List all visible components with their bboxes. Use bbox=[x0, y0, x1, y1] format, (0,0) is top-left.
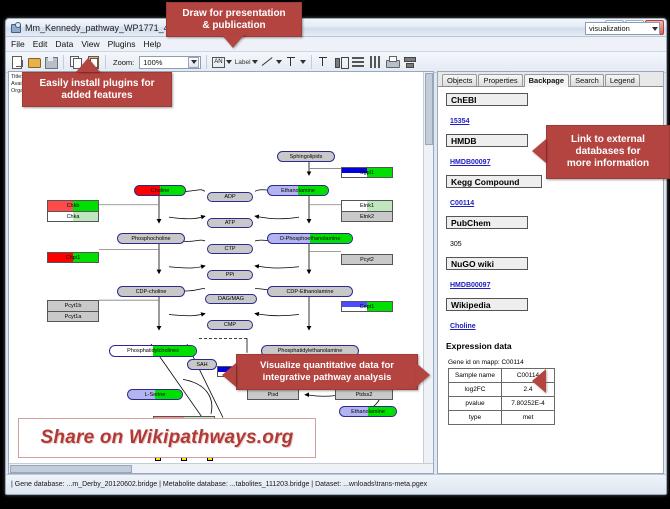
table-row: type met bbox=[449, 411, 555, 425]
node-label: CTP bbox=[225, 246, 236, 252]
line-icon bbox=[261, 55, 275, 69]
node-chkb[interactable]: Chkb bbox=[47, 200, 99, 211]
node-ptdss2[interactable]: Ptdss2 bbox=[335, 389, 393, 400]
node-label: Pcyt1b bbox=[65, 303, 82, 309]
cell-key: type bbox=[449, 411, 502, 425]
node-label: ADP bbox=[224, 194, 235, 200]
canvas-hscroll-thumb[interactable] bbox=[10, 465, 132, 473]
node-label: Cept1 bbox=[360, 304, 375, 310]
callout-line-3: more information bbox=[567, 158, 649, 170]
menu-plugins[interactable]: Plugins bbox=[108, 39, 136, 49]
datanode-icon: AN bbox=[212, 57, 224, 68]
callout-line-1: Easily install plugins for bbox=[39, 78, 154, 90]
toolbar-separator bbox=[105, 55, 106, 69]
node-ppi[interactable]: PPi bbox=[207, 270, 253, 280]
node-label: Chpt1 bbox=[66, 255, 81, 261]
callout-external-databases: Link to external databases for more info… bbox=[546, 125, 670, 179]
menu-bar: File Edit Data View Plugins Help bbox=[6, 37, 666, 52]
label-dropdown[interactable]: Label bbox=[235, 59, 258, 66]
callout-arrow-down-draw bbox=[221, 34, 245, 48]
node-cdp-choline[interactable]: CDP-choline bbox=[117, 286, 185, 297]
save-file-icon[interactable] bbox=[44, 55, 58, 69]
db-header-chebi: ChEBI bbox=[446, 93, 528, 106]
db-header-kegg-compound: Kegg Compound bbox=[446, 175, 542, 188]
tab-search[interactable]: Search bbox=[570, 74, 604, 86]
callout-install-plugins: Easily install plugins for added feature… bbox=[22, 72, 172, 107]
node-pcyt1b[interactable]: Pcyt1b bbox=[47, 300, 99, 311]
node-label: Phosphatidylcholines bbox=[127, 348, 179, 354]
db-link-kegg-compound[interactable]: C00114 bbox=[450, 200, 474, 207]
db-header-wikipedia: Wikipedia bbox=[446, 298, 528, 311]
properties-icon[interactable] bbox=[402, 55, 416, 69]
toolbar-separator bbox=[206, 55, 207, 69]
expression-data-title: Expression data bbox=[446, 341, 663, 351]
menu-data[interactable]: Data bbox=[55, 39, 73, 49]
table-row: pvalue 7.80252E-4 bbox=[449, 397, 555, 411]
canvas-vscrollbar[interactable] bbox=[423, 72, 433, 464]
node-label: Phosphocholine bbox=[131, 236, 170, 242]
node-atp[interactable]: ATP bbox=[207, 218, 253, 228]
status-text: | Gene database: ...m_Derby_20120602.bri… bbox=[11, 481, 427, 488]
pathway-canvas[interactable]: Title: Availa Organi bbox=[8, 71, 434, 474]
label-dropdown-label: Label bbox=[235, 59, 251, 66]
node-label: Pisd bbox=[268, 392, 279, 398]
node-label: Ethanolamine bbox=[281, 188, 315, 194]
align-rows-icon[interactable] bbox=[351, 55, 365, 69]
node-dag-mag[interactable]: DAG/MAG bbox=[205, 294, 257, 304]
db-header-hmdb: HMDB bbox=[446, 134, 528, 147]
visualization-value: visualization bbox=[589, 24, 630, 33]
node-label: CDP-Ethanolamine bbox=[286, 289, 333, 295]
share-banner: Share on Wikipathways.org bbox=[18, 418, 316, 458]
node-phosphatidylcholines[interactable]: Phosphatidylcholines bbox=[109, 345, 197, 357]
node-label: Chka bbox=[67, 214, 80, 220]
toolbar-separator bbox=[63, 55, 64, 69]
side-panel-tabs: Objects Properties Backpage Search Legen… bbox=[438, 72, 663, 87]
node-cdp-ethanolamine[interactable]: CDP-Ethanolamine bbox=[267, 286, 353, 297]
cell-value: 2.4 bbox=[502, 383, 555, 397]
tab-properties[interactable]: Properties bbox=[478, 74, 522, 86]
db-header-nugo-wiki: NuGO wiki bbox=[446, 257, 528, 270]
callout-arrow-left-databases bbox=[532, 139, 546, 163]
node-ctp[interactable]: CTP bbox=[207, 244, 253, 254]
canvas-hscrollbar[interactable] bbox=[9, 463, 433, 473]
zoom-combobox[interactable]: 100% bbox=[139, 56, 201, 69]
share-banner-text: Share on Wikipathways.org bbox=[41, 427, 294, 449]
gene-id-label: Gene id on mapp: C00114 bbox=[448, 359, 663, 366]
db-link-wikipedia[interactable]: Choline bbox=[450, 323, 476, 330]
cell-key: log2FC bbox=[449, 383, 502, 397]
print-icon[interactable] bbox=[385, 55, 399, 69]
callout-line-1: Visualize quantitative data for bbox=[260, 360, 394, 372]
node-sphingolipids[interactable]: Sphingolipids bbox=[277, 151, 335, 162]
menu-help[interactable]: Help bbox=[144, 39, 161, 49]
interaction-dropdown[interactable] bbox=[285, 55, 306, 69]
db-link-chebi[interactable]: 15354 bbox=[450, 118, 469, 125]
callout-arrow-up-plugins bbox=[76, 58, 100, 72]
node-choline-top[interactable]: Choline bbox=[134, 185, 186, 196]
pathvisio-icon bbox=[10, 22, 21, 33]
align-left-icon[interactable] bbox=[334, 55, 348, 69]
callout-line-2: added features bbox=[61, 90, 132, 102]
node-label: L-Serine bbox=[145, 392, 166, 398]
cell-value: met bbox=[502, 411, 555, 425]
callout-line-2: & publication bbox=[202, 20, 265, 32]
db-value-pubchem: 305 bbox=[450, 241, 462, 248]
node-l-serine-left[interactable]: L-Serine bbox=[127, 389, 183, 400]
tab-legend[interactable]: Legend bbox=[605, 74, 640, 86]
node-label: O-Phosphoethanolamine bbox=[280, 236, 341, 242]
new-file-icon[interactable] bbox=[10, 55, 24, 69]
node-sgpl1[interactable]: Sgpl1 bbox=[341, 167, 393, 178]
node-ethanolamine-bottom[interactable]: Ethanolamine bbox=[339, 406, 397, 417]
node-label: Choline bbox=[151, 188, 170, 194]
status-bar: | Gene database: ...m_Derby_20120602.bri… bbox=[6, 474, 666, 494]
cell-value: C00114 bbox=[502, 369, 555, 383]
menu-edit[interactable]: Edit bbox=[33, 39, 48, 49]
node-label: Sgpl1 bbox=[360, 170, 374, 176]
node-sah[interactable]: SAH bbox=[187, 359, 217, 370]
cell-key: Sample name bbox=[449, 369, 502, 383]
node-pisd[interactable]: Pisd bbox=[247, 389, 299, 400]
tab-backpage[interactable]: Backpage bbox=[524, 74, 569, 87]
callout-arrow-left-visualize bbox=[222, 363, 236, 387]
callout-line-2: integrative pathway analysis bbox=[263, 372, 392, 384]
toolbar-separator bbox=[311, 55, 312, 69]
node-ethanolamine-top[interactable]: Ethanolamine bbox=[267, 185, 329, 196]
node-pcyt1a[interactable]: Pcyt1a bbox=[47, 311, 99, 322]
node-etnk1[interactable]: Etnk1 bbox=[341, 200, 393, 211]
node-cmp[interactable]: CMP bbox=[207, 320, 253, 330]
open-file-icon[interactable] bbox=[27, 55, 41, 69]
callout-draw-for-publication: Draw for presentation & publication bbox=[166, 2, 302, 37]
menu-file[interactable]: File bbox=[11, 39, 25, 49]
callout-visualize-data: Visualize quantitative data for integrat… bbox=[236, 354, 418, 390]
node-label: Pcyt1a bbox=[65, 314, 82, 320]
line-dropdown[interactable] bbox=[261, 55, 282, 69]
db-header-pubchem: PubChem bbox=[446, 216, 528, 229]
visualization-combobox[interactable]: visualization bbox=[585, 22, 660, 35]
node-label: CMP bbox=[224, 322, 236, 328]
node-phosphocholine[interactable]: Phosphocholine bbox=[117, 233, 185, 244]
node-label: Etnk2 bbox=[360, 214, 374, 220]
node-o-phosphoethanolamine[interactable]: O-Phosphoethanolamine bbox=[267, 233, 353, 244]
node-chka[interactable]: Chka bbox=[47, 211, 99, 222]
node-label: PPi bbox=[226, 272, 235, 278]
node-label: Sphingolipids bbox=[290, 154, 323, 160]
zoom-label: Zoom: bbox=[113, 58, 134, 67]
db-link-nugo-wiki[interactable]: HMDB00097 bbox=[450, 282, 490, 289]
callout-line-1: Link to external bbox=[571, 134, 645, 146]
callout-line-2: databases for bbox=[575, 146, 640, 158]
node-cept1[interactable]: Cept1 bbox=[341, 301, 393, 312]
zoom-value: 100% bbox=[143, 58, 162, 67]
align-center-icon[interactable] bbox=[317, 55, 331, 69]
node-label: Etnk1 bbox=[360, 203, 374, 209]
chevron-down-icon[interactable] bbox=[188, 57, 199, 68]
callout-line-1: Draw for presentation bbox=[182, 8, 285, 20]
node-etnk2[interactable]: Etnk2 bbox=[341, 211, 393, 222]
datanode-dropdown[interactable]: AN bbox=[212, 57, 231, 68]
node-label: Ethanolamine bbox=[351, 409, 385, 415]
node-pcyt2[interactable]: Pcyt2 bbox=[341, 254, 393, 265]
node-label: SAH bbox=[196, 362, 207, 368]
node-label: ATP bbox=[225, 220, 235, 226]
cell-key: pvalue bbox=[449, 397, 502, 411]
node-label: Chkb bbox=[67, 203, 80, 209]
node-label: DAG/MAG bbox=[218, 296, 244, 302]
callout-arrow-left-expression bbox=[532, 369, 546, 393]
align-cols-icon[interactable] bbox=[368, 55, 382, 69]
menu-view[interactable]: View bbox=[81, 39, 99, 49]
callout-arrow-right-visualize bbox=[416, 363, 430, 387]
node-chpt1[interactable]: Chpt1 bbox=[47, 252, 99, 263]
cell-value: 7.80252E-4 bbox=[502, 397, 555, 411]
tab-objects[interactable]: Objects bbox=[442, 74, 477, 86]
db-link-hmdb[interactable]: HMDB00097 bbox=[450, 159, 490, 166]
node-label: Pcyt2 bbox=[360, 257, 374, 263]
title-bar: Mm_Kennedy_pathway_WP1771_45176.gpml – ❐… bbox=[6, 19, 666, 37]
interaction-icon bbox=[285, 55, 299, 69]
node-adp[interactable]: ADP bbox=[207, 192, 253, 202]
node-label: Ptdss2 bbox=[356, 392, 373, 398]
canvas-vscroll-thumb[interactable] bbox=[425, 73, 433, 145]
node-label: CDP-choline bbox=[136, 289, 167, 295]
